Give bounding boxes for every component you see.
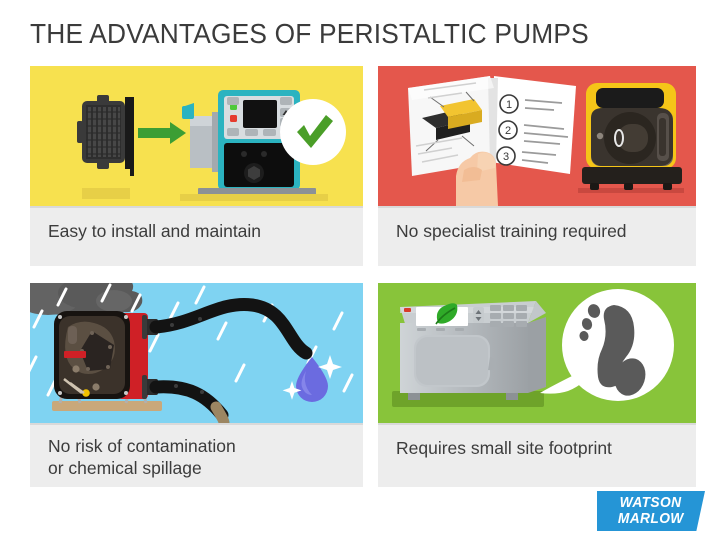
watson-marlow-logo: WATSON MARLOW (597, 491, 705, 531)
card-easy-install-art (30, 66, 363, 206)
logo-line-1: WATSON (620, 495, 682, 511)
pump-display-icon (596, 88, 664, 108)
rain-pump-droplet-illustration (30, 283, 363, 423)
svg-text:3: 3 (503, 151, 509, 163)
motor-icon (77, 95, 134, 176)
svg-text:1: 1 (506, 99, 512, 111)
card-no-contamination-caption: No risk of contamination or chemical spi… (30, 423, 363, 487)
manual-book-icon: 1 2 3 (408, 76, 576, 206)
led-red-icon (404, 308, 411, 312)
check-mark-icon (280, 99, 346, 165)
function-buttons (417, 328, 464, 331)
green-arrow-icon (138, 122, 186, 144)
caption-line: Easy to install and maintain (48, 220, 363, 242)
svg-text:2: 2 (505, 125, 511, 137)
keypad-icon (490, 305, 527, 327)
card-no-training: 1 2 3 (378, 66, 696, 266)
card-small-footprint-caption: Requires small site footprint (378, 423, 696, 487)
caption-line: No risk of contamination (48, 435, 363, 457)
arrow-keys-icon (473, 307, 484, 323)
card-no-training-art: 1 2 3 (378, 66, 696, 206)
card-no-contamination-art (30, 283, 363, 423)
caption-line: No specialist training required (396, 220, 696, 242)
infographic-root: THE ADVANTAGES OF PERISTALTIC PUMPS (0, 0, 727, 545)
upper-hose-icon (156, 305, 306, 353)
card-small-footprint: Requires small site footprint (378, 283, 696, 487)
motor-arrow-pump-check-illustration (30, 66, 363, 206)
card-easy-install-caption: Easy to install and maintain (30, 206, 363, 266)
yellow-pump-icon (578, 83, 684, 193)
cabinet-pump-icon (400, 301, 546, 400)
caption-line: or chemical spillage (48, 457, 363, 479)
manual-hand-pump-illustration: 1 2 3 (378, 66, 696, 206)
cabinet-pump-footprint-illustration (378, 283, 696, 423)
card-easy-install: Easy to install and maintain (30, 66, 363, 266)
motor-shadow (82, 188, 130, 199)
water-droplet-icon (296, 357, 328, 402)
card-small-footprint-art (378, 283, 696, 423)
page-title: THE ADVANTAGES OF PERISTALTIC PUMPS (30, 18, 589, 50)
logo-line-2: MARLOW (618, 511, 684, 527)
card-no-training-caption: No specialist training required (378, 206, 696, 266)
led-red-icon (230, 115, 237, 122)
card-no-contamination: No risk of contamination or chemical spi… (30, 283, 363, 487)
logo-text: WATSON MARLOW (597, 491, 705, 531)
caption-line: Requires small site footprint (396, 437, 696, 459)
